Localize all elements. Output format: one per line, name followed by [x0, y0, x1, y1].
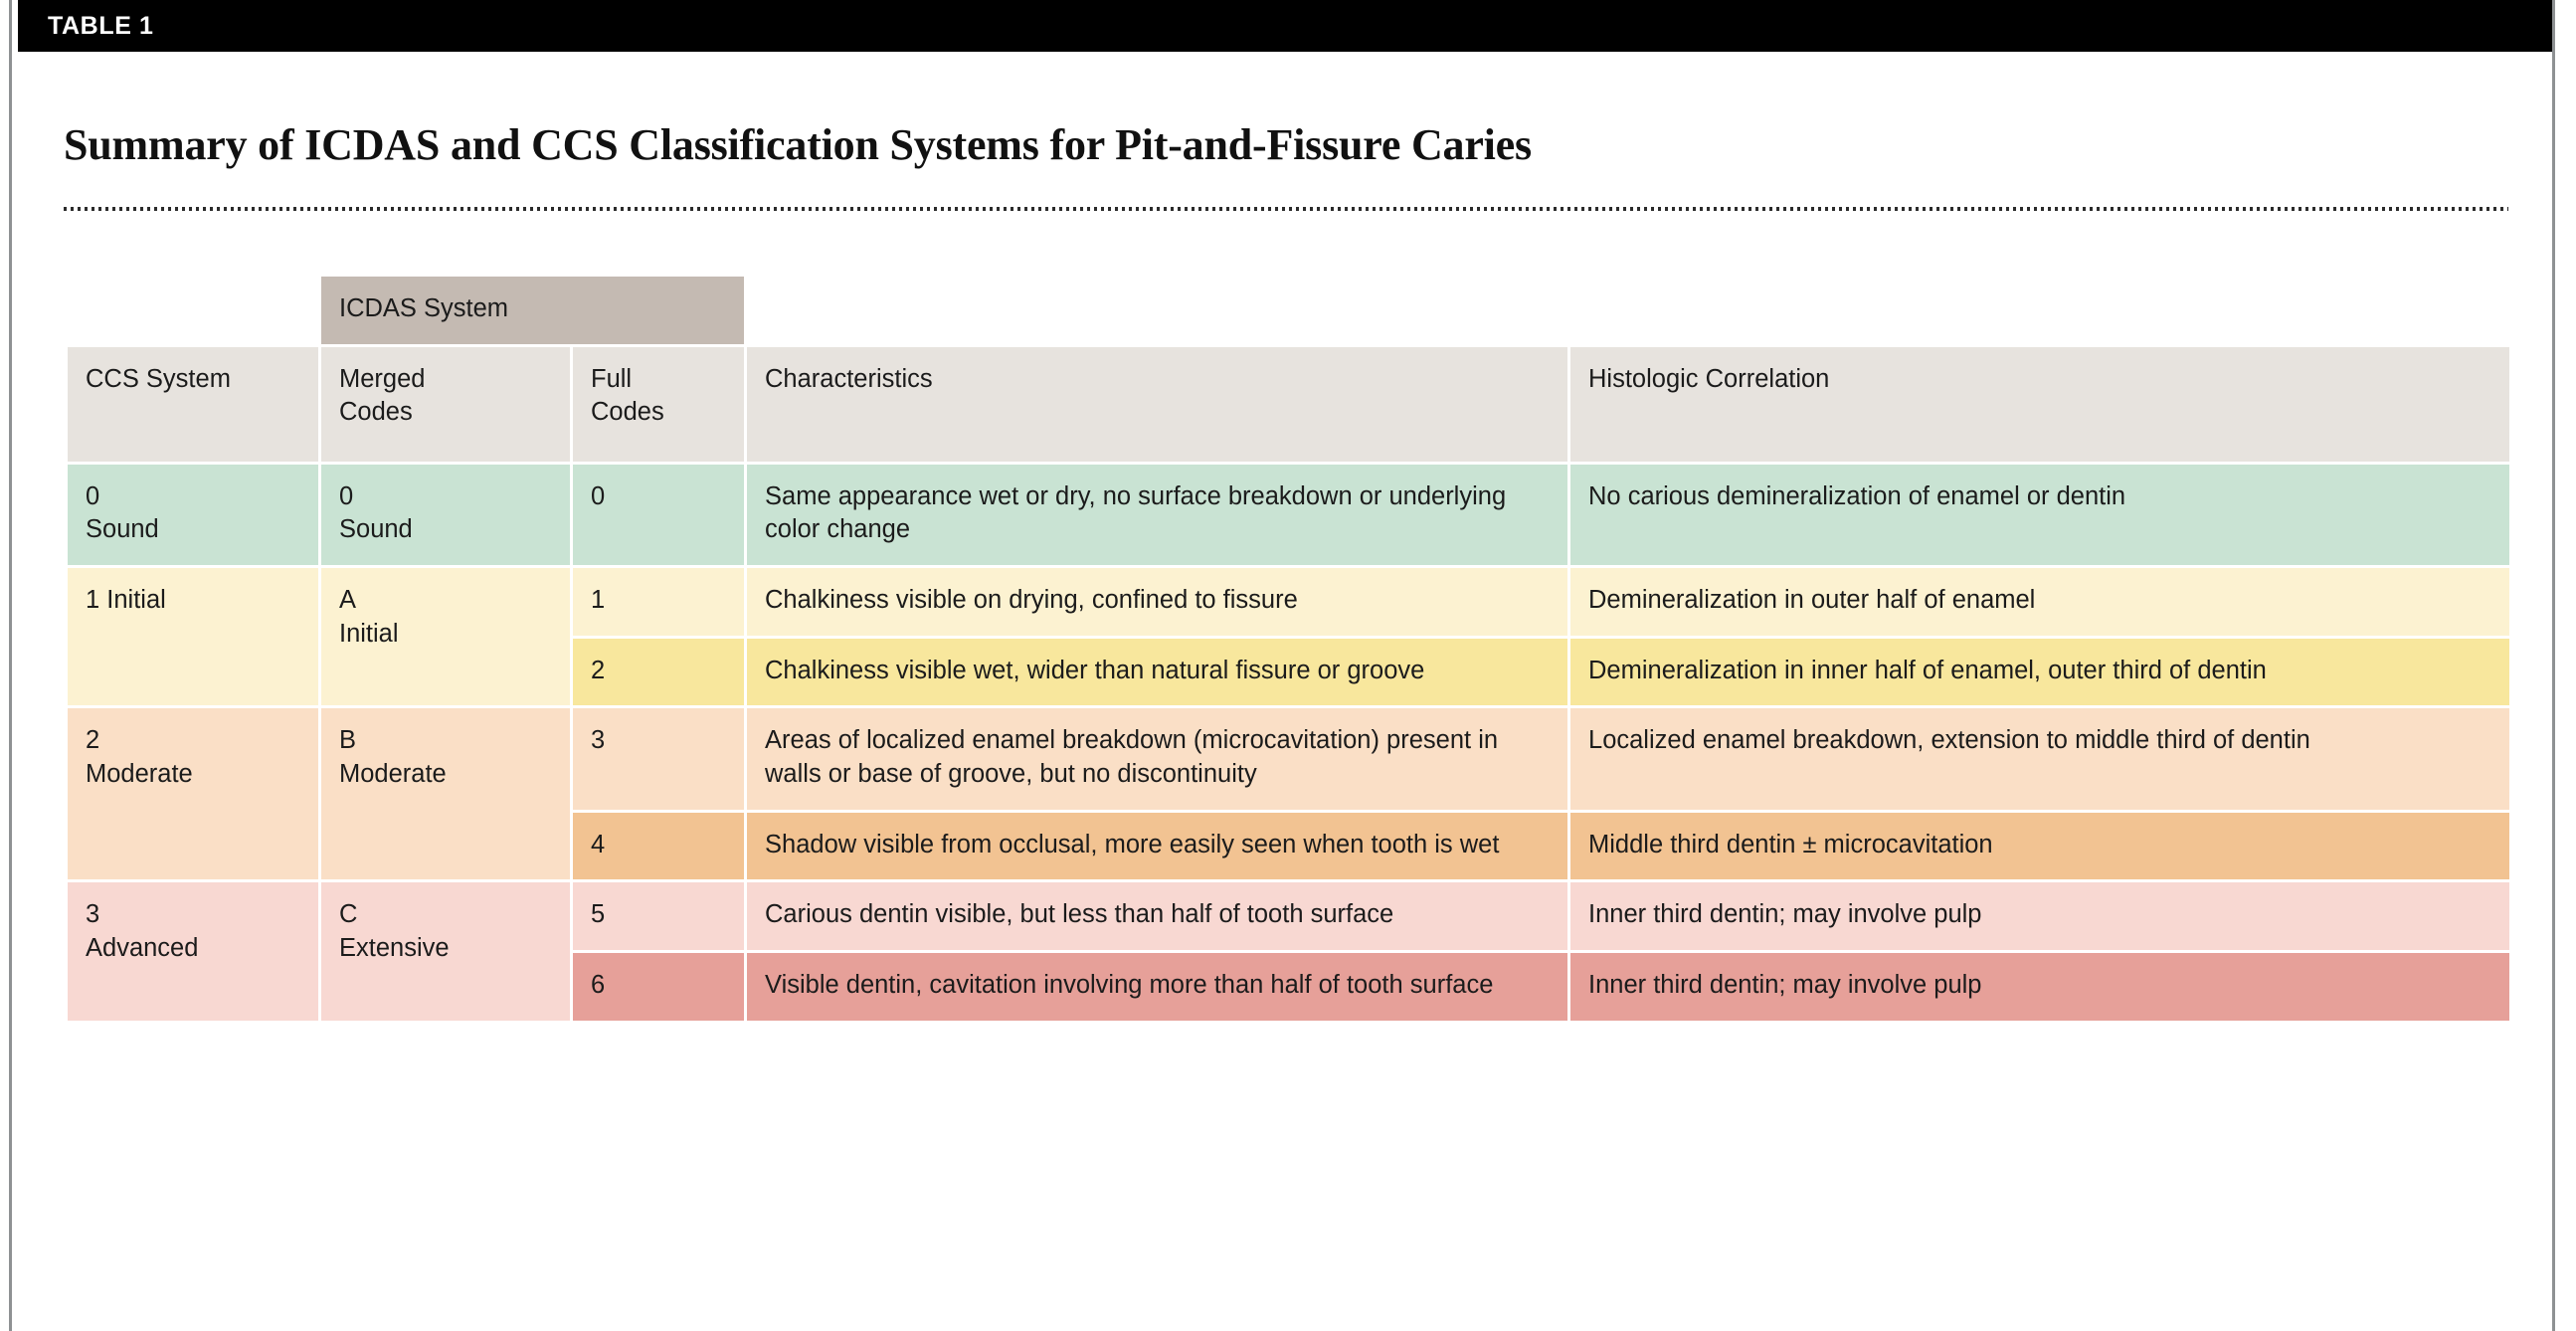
- table-number-label: TABLE 1: [48, 12, 154, 41]
- merged-label: Sound: [339, 513, 552, 547]
- merged-label: Extensive: [339, 932, 552, 966]
- header-histologic-correlation: Histologic Correlation: [1570, 347, 2509, 465]
- header-merged-codes-line2: Codes: [339, 396, 552, 430]
- ccs-label: Sound: [86, 513, 300, 547]
- cell-full-code: 5: [573, 882, 747, 953]
- cell-characteristics: Chalkiness visible on drying, confined t…: [747, 568, 1570, 639]
- cell-characteristics: Chalkiness visible wet, wider than natur…: [747, 639, 1570, 709]
- ccs-code: 2: [86, 724, 300, 758]
- table-spanner-row: ICDAS System: [68, 277, 2509, 347]
- cell-merged-extensive: C Extensive: [321, 882, 573, 1023]
- cell-full-code: 1: [573, 568, 747, 639]
- header-full-codes-line1: Full: [591, 363, 726, 397]
- header-full-codes: Full Codes: [573, 347, 747, 465]
- cell-full-code: 4: [573, 813, 747, 883]
- cell-merged-initial: A Initial: [321, 568, 573, 708]
- cell-merged-moderate: B Moderate: [321, 708, 573, 882]
- page-rule-left: [9, 0, 12, 1331]
- table-row: 0 Sound 0 Sound 0 Same appearance wet or…: [68, 465, 2509, 568]
- spanner-spacer-hist: [1570, 277, 2509, 347]
- spanner-icdas-system: ICDAS System: [321, 277, 747, 347]
- header-full-codes-line2: Codes: [591, 396, 726, 430]
- cell-ccs-initial: 1 Initial: [68, 568, 321, 708]
- merged-code: 0: [339, 480, 552, 514]
- merged-code: B: [339, 724, 552, 758]
- cell-characteristics: Areas of localized enamel breakdown (mic…: [747, 708, 1570, 812]
- table-row: 2 Moderate B Moderate 3 Areas of localiz…: [68, 708, 2509, 812]
- spanner-spacer-char: [747, 277, 1570, 347]
- merged-label: Initial: [339, 618, 552, 652]
- table-row: 3 Advanced C Extensive 5 Carious dentin …: [68, 882, 2509, 953]
- cell-full-code: 6: [573, 953, 747, 1024]
- cell-ccs-sound: 0 Sound: [68, 465, 321, 568]
- ccs-label: Advanced: [86, 932, 300, 966]
- table-row: 1 Initial A Initial 1 Chalkiness visible…: [68, 568, 2509, 639]
- ccs-code: 0: [86, 480, 300, 514]
- cell-histologic: Inner third dentin; may involve pulp: [1570, 953, 2509, 1024]
- header-merged-codes-line1: Merged: [339, 363, 552, 397]
- cell-histologic: Demineralization in inner half of enamel…: [1570, 639, 2509, 709]
- ccs-label: Moderate: [86, 758, 300, 792]
- title-divider: [64, 207, 2508, 211]
- merged-label: Moderate: [339, 758, 552, 792]
- cell-characteristics: Visible dentin, cavitation involving mor…: [747, 953, 1570, 1024]
- ccs-code: 1 Initial: [86, 584, 300, 618]
- merged-code: C: [339, 898, 552, 932]
- cell-histologic: Localized enamel breakdown, extension to…: [1570, 708, 2509, 812]
- cell-histologic: Middle third dentin ± microcavitation: [1570, 813, 2509, 883]
- cell-characteristics: Carious dentin visible, but less than ha…: [747, 882, 1570, 953]
- cell-merged-sound: 0 Sound: [321, 465, 573, 568]
- cell-ccs-moderate: 2 Moderate: [68, 708, 321, 882]
- cell-ccs-advanced: 3 Advanced: [68, 882, 321, 1023]
- table-header-row: CCS System Merged Codes Full Codes Chara…: [68, 347, 2509, 465]
- page-rule-right: [2552, 0, 2555, 1331]
- cell-characteristics: Shadow visible from occlusal, more easil…: [747, 813, 1570, 883]
- cell-full-code: 2: [573, 639, 747, 709]
- ccs-code: 3: [86, 898, 300, 932]
- cell-characteristics: Same appearance wet or dry, no surface b…: [747, 465, 1570, 568]
- header-merged-codes: Merged Codes: [321, 347, 573, 465]
- page-title: Summary of ICDAS and CCS Classification …: [64, 119, 2471, 170]
- classification-table: ICDAS System CCS System Merged Codes Ful…: [68, 277, 2509, 1024]
- cell-histologic: Inner third dentin; may involve pulp: [1570, 882, 2509, 953]
- cell-histologic: No carious demineralization of enamel or…: [1570, 465, 2509, 568]
- cell-full-code: 3: [573, 708, 747, 812]
- header-ccs-system: CCS System: [68, 347, 321, 465]
- header-characteristics: Characteristics: [747, 347, 1570, 465]
- spanner-spacer-left: [68, 277, 321, 347]
- table-banner: TABLE 1: [18, 0, 2552, 52]
- cell-full-code: 0: [573, 465, 747, 568]
- cell-histologic: Demineralization in outer half of enamel: [1570, 568, 2509, 639]
- merged-code: A: [339, 584, 552, 618]
